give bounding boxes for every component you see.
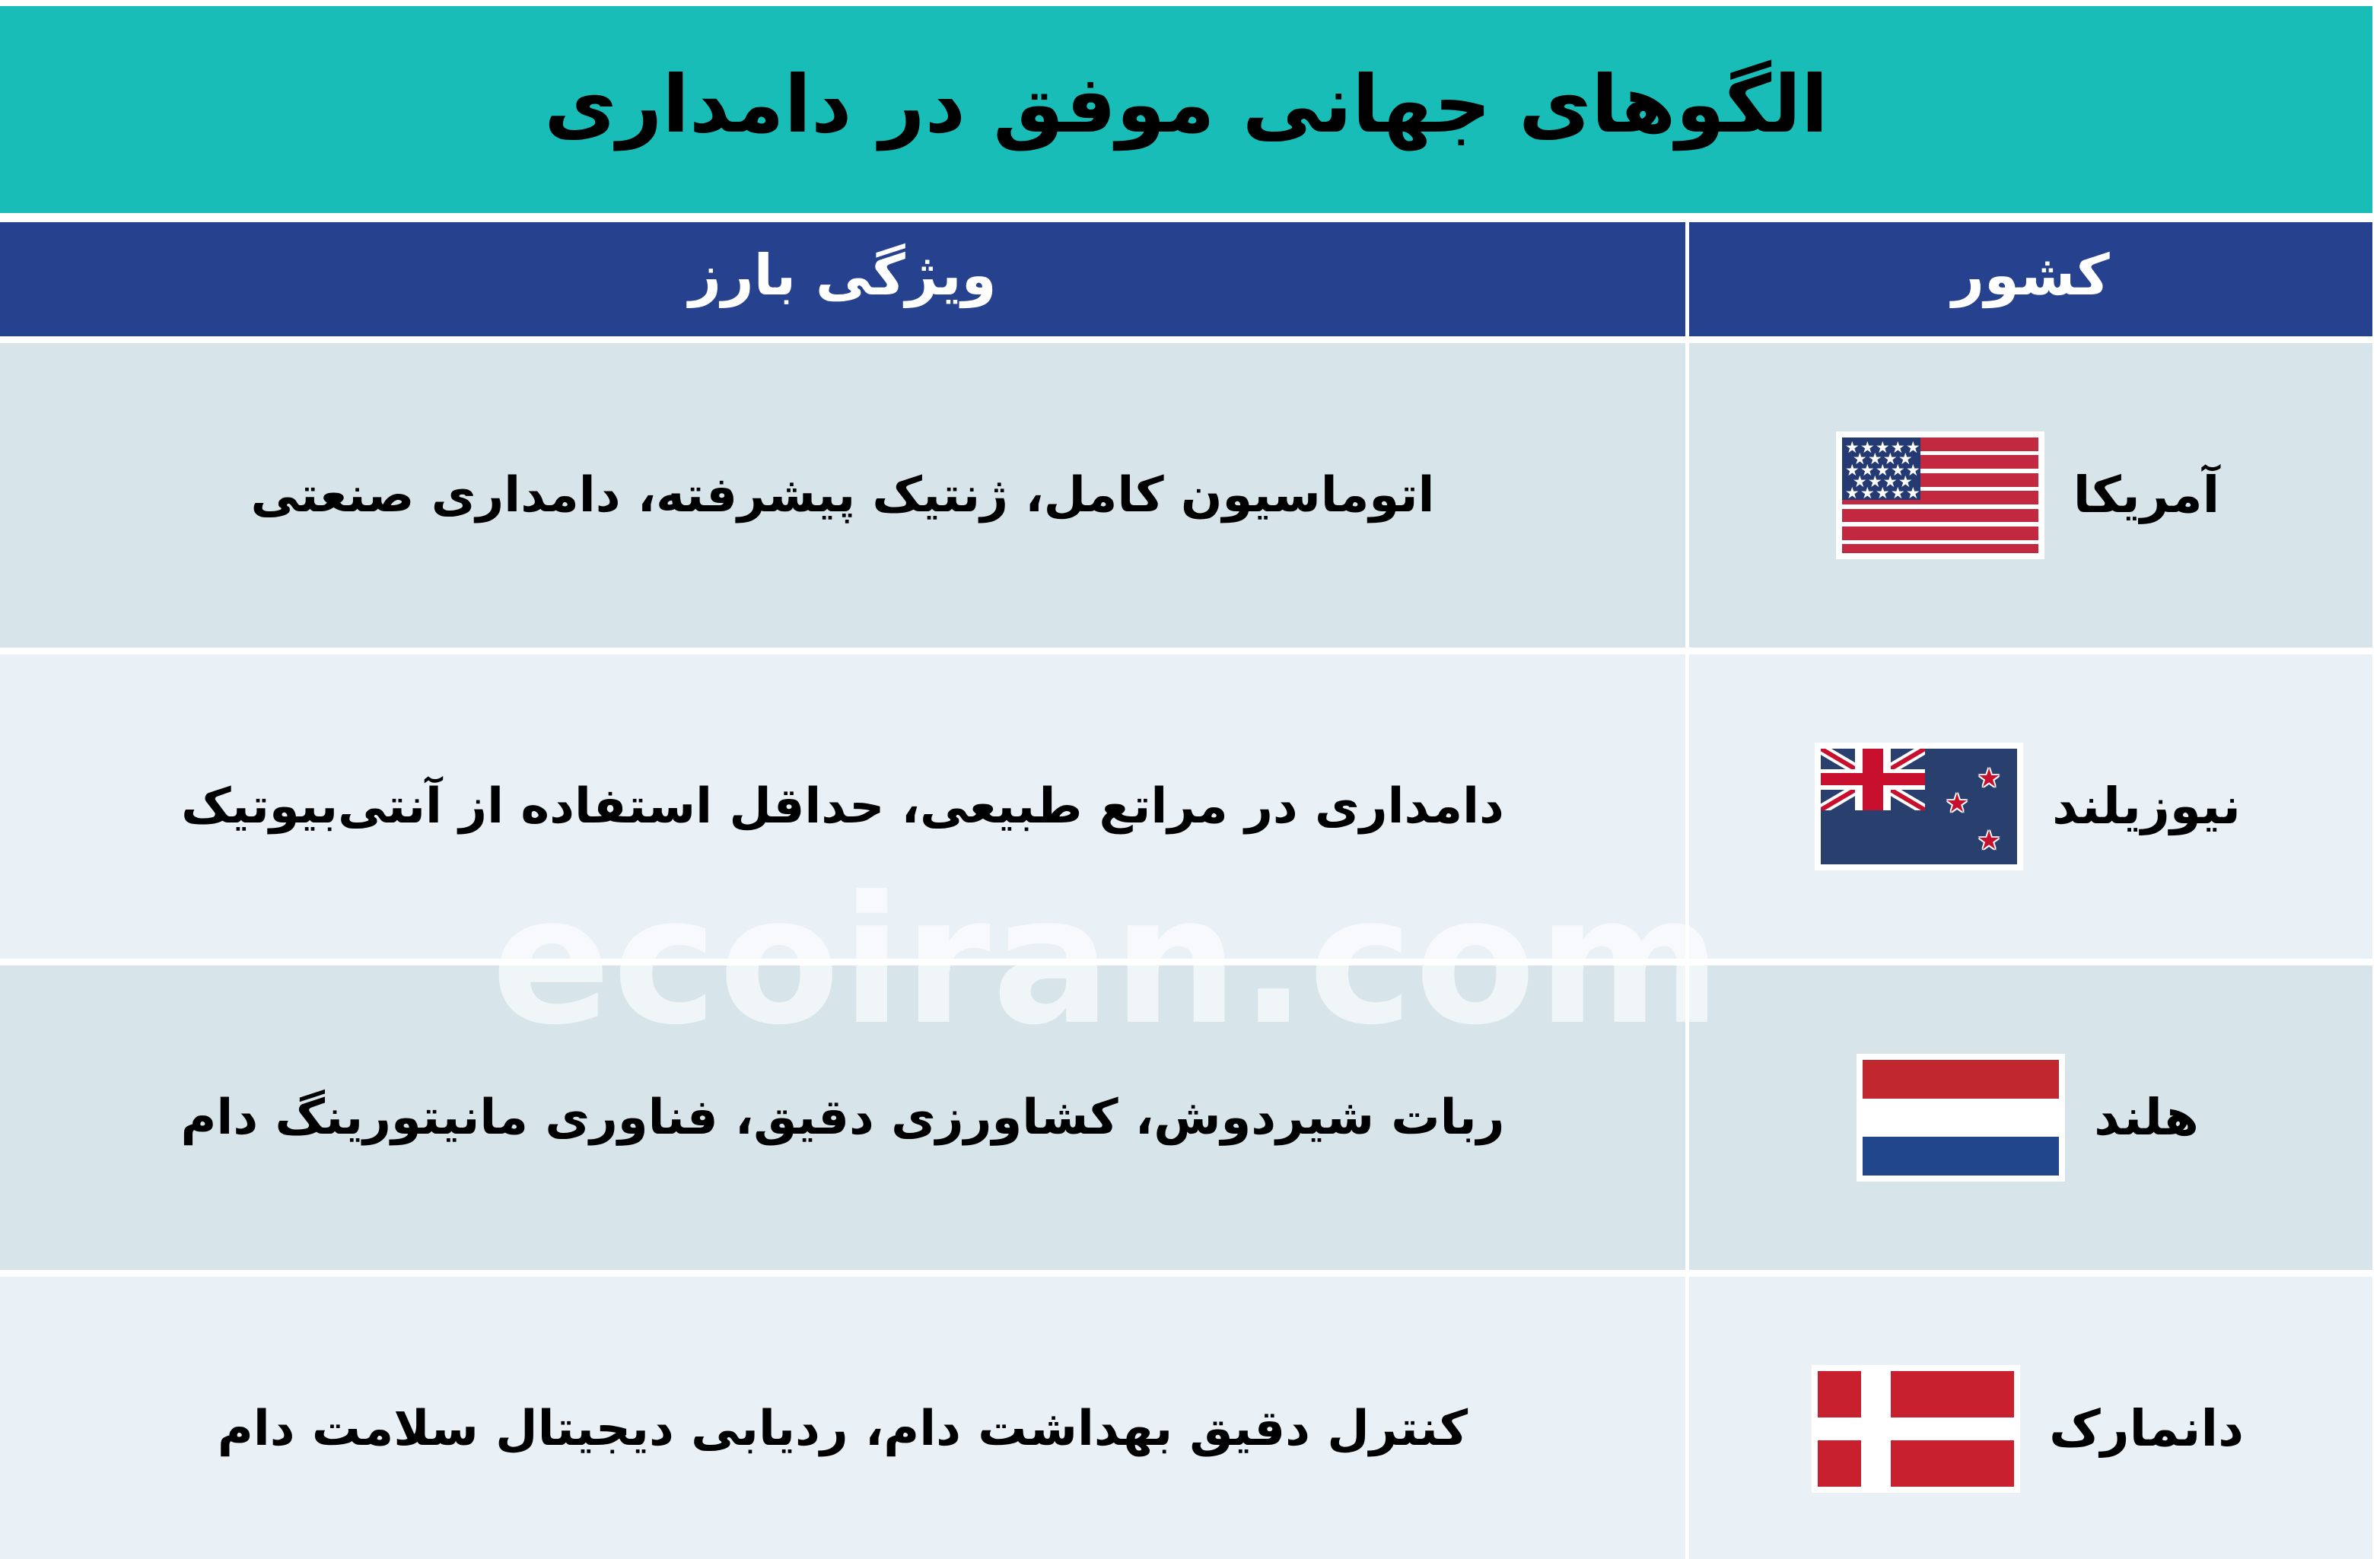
flag-new-zealand-icon: ★ ★ ★ [1821,749,2017,864]
comparison-table: کشور ویژگی بارز آمریکا [0,213,2372,1559]
country-label-netherlands: هلند [2094,1093,2199,1143]
country-label-usa: آمریکا [2073,470,2220,520]
table-row: نیوزیلند ★ ★ ★ دامداری در [0,654,2372,959]
title-banner: الگوهای جهانی موفق در دامداری [0,6,2372,213]
feature-text-netherlands: ربات شیردوش، کشاورزی دقیق، فناوری مانیتو… [150,1087,1535,1148]
table-header-row: کشور ویژگی بارز [0,222,2372,336]
header-cell-country: کشور [1689,222,2372,336]
page-title: الگوهای جهانی موفق در دامداری [544,61,1828,158]
feature-text-usa: اتوماسیون کامل، ژنتیک پیشرفته، دامداری ص… [221,465,1465,526]
infographic-table: ecoiran.com الگوهای جهانی موفق در دامدار… [0,0,2380,1559]
flag-netherlands-icon [1863,1060,2059,1176]
flag-usa-icon: ★ ★ ★ ★ ★ ★ ★ ★ ★ ★ ★ ★ ★ ★ ★ [1842,437,2038,553]
feature-text-new-zealand: دامداری در مراتع طبیعی، حداقل استفاده از… [151,776,1535,837]
table-row: آمریکا ★ ★ ★ ★ ★ [0,343,2372,647]
cell-country-denmark: دانمارک [1689,1277,2372,1559]
header-label-feature: ویژگی بارز [689,247,996,311]
flag-denmark-icon [1818,1371,2014,1487]
country-label-new-zealand: نیوزیلند [2052,781,2241,832]
cell-country-new-zealand: نیوزیلند ★ ★ ★ [1689,654,2372,959]
cell-feature-netherlands: ربات شیردوش، کشاورزی دقیق، فناوری مانیتو… [0,966,1685,1270]
header-label-country: کشور [1952,247,2109,311]
cell-feature-denmark: کنترل دقیق بهداشت دام، ردیابی دیجیتال سل… [0,1277,1685,1559]
cell-feature-new-zealand: دامداری در مراتع طبیعی، حداقل استفاده از… [0,654,1685,959]
feature-text-denmark: کنترل دقیق بهداشت دام، ردیابی دیجیتال سل… [187,1398,1498,1459]
table-row: دانمارک کنترل دقیق بهداشت دام، ردیابی دی… [0,1277,2372,1559]
cell-country-usa: آمریکا ★ ★ ★ ★ ★ [1689,343,2372,647]
header-cell-feature: ویژگی بارز [0,222,1685,336]
cell-feature-usa: اتوماسیون کامل، ژنتیک پیشرفته، دامداری ص… [0,343,1685,647]
cell-country-netherlands: هلند [1689,966,2372,1270]
country-label-denmark: دانمارک [2049,1404,2244,1454]
table-row: هلند ربات شیردوش، کشاورزی دقیق، فناوری م… [0,966,2372,1270]
